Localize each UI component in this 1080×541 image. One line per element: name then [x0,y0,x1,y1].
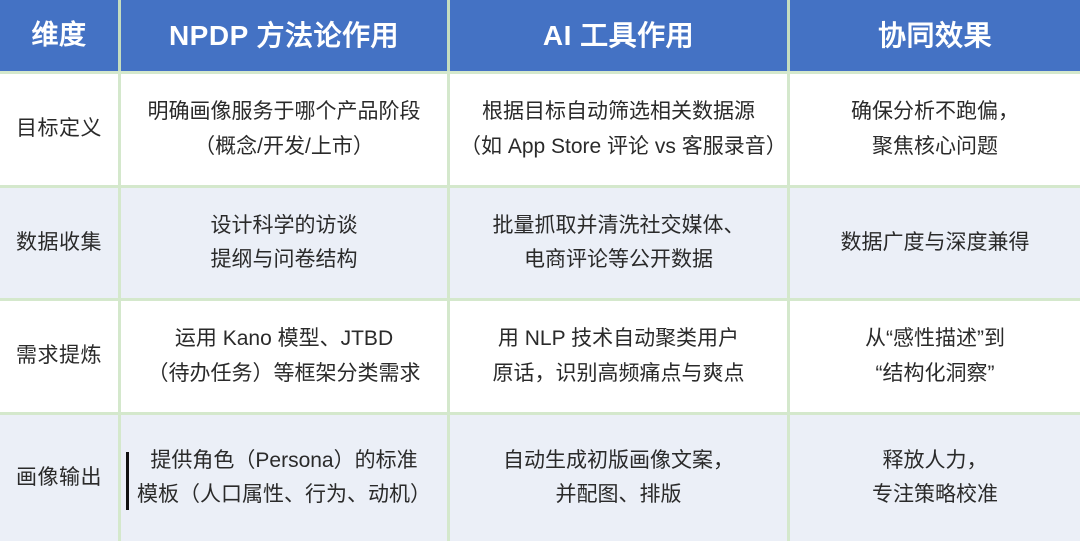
table-row: 需求提炼 运用 Kano 模型、JTBD （待办任务）等框架分类需求 用 NLP… [0,298,1080,412]
cell-npdp: 运用 Kano 模型、JTBD （待办任务）等框架分类需求 [121,301,450,412]
table-row: 数据收集 设计科学的访谈 提纲与问卷结构 批量抓取并清洗社交媒体、 电商评论等公… [0,185,1080,298]
cell-synergy: 从“感性描述”到 “结构化洞察” [790,301,1080,412]
column-header-dimension: 维度 [0,0,121,71]
column-header-synergy-label: 协同效果 [878,19,992,53]
column-header-ai-label: AI 工具作用 [543,19,694,53]
column-header-ai: AI 工具作用 [450,0,790,71]
cell-synergy: 确保分析不跑偏， 聚焦核心问题 [790,74,1080,185]
column-header-synergy: 协同效果 [790,0,1080,71]
column-header-dimension-label: 维度 [32,19,87,51]
table-row: 画像输出 提供角色（Persona）的标准 模板（人口属性、行为、动机） 自动生… [0,412,1080,541]
cell-ai: 用 NLP 技术自动聚类用户 原话，识别高频痛点与爽点 [450,301,790,412]
cell-ai: 根据目标自动筛选相关数据源 （如 App Store 评论 vs 客服录音） [450,74,790,185]
table-row: 目标定义 明确画像服务于哪个产品阶段 （概念/开发/上市） 根据目标自动筛选相关… [0,71,1080,185]
cell-npdp: 设计科学的访谈 提纲与问卷结构 [121,188,450,298]
text-cursor-caret [126,452,129,510]
cell-synergy: 数据广度与深度兼得 [790,188,1080,298]
comparison-table: 维度 NPDP 方法论作用 AI 工具作用 协同效果 目标定义 明确画像服务于哪… [0,0,1080,529]
cell-synergy: 释放人力， 专注策略校准 [790,415,1080,541]
column-header-npdp: NPDP 方法论作用 [121,0,450,71]
cell-npdp: 明确画像服务于哪个产品阶段 （概念/开发/上市） [121,74,450,185]
cell-npdp: 提供角色（Persona）的标准 模板（人口属性、行为、动机） [121,415,450,541]
cell-dimension: 画像输出 [0,415,121,541]
cell-dimension: 需求提炼 [0,301,121,412]
column-header-npdp-label: NPDP 方法论作用 [169,19,399,53]
cell-ai: 自动生成初版画像文案， 并配图、排版 [450,415,790,541]
table-header-row: 维度 NPDP 方法论作用 AI 工具作用 协同效果 [0,0,1080,71]
cell-dimension: 目标定义 [0,74,121,185]
cell-ai: 批量抓取并清洗社交媒体、 电商评论等公开数据 [450,188,790,298]
cell-dimension: 数据收集 [0,188,121,298]
